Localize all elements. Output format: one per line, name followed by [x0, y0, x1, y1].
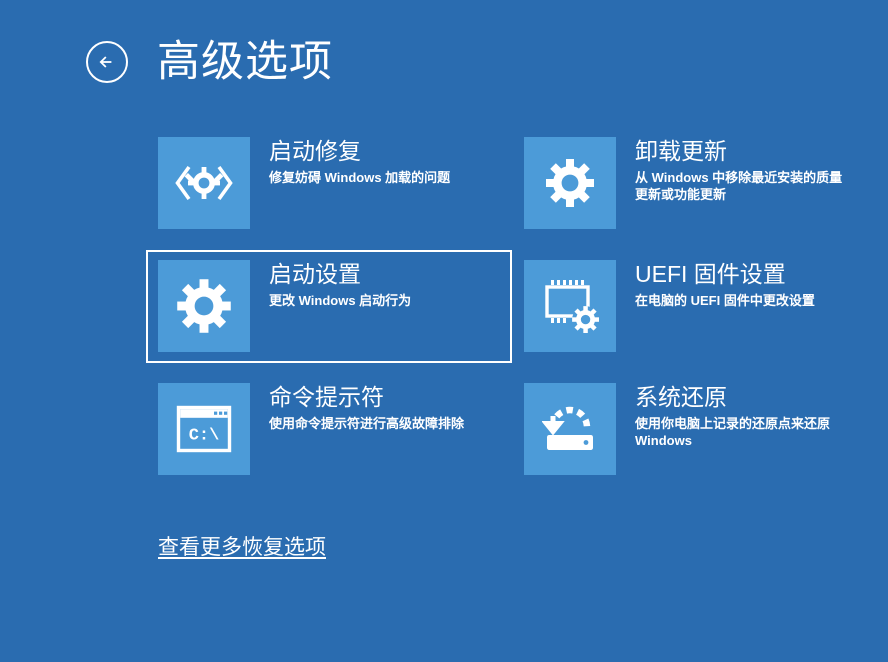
options-grid: 启动修复 修复妨碍 Windows 加载的问题 卸载更新	[146, 127, 886, 496]
tile-subtitle: 使用你电脑上记录的还原点来还原 Windows	[635, 415, 849, 449]
svg-text:C:\: C:\	[189, 427, 220, 446]
tile-startup-settings[interactable]: 启动设置 更改 Windows 启动行为	[146, 250, 512, 363]
tile-text: 卸载更新 从 Windows 中移除最近安装的质量更新或功能更新	[635, 137, 849, 203]
tile-title: 系统还原	[635, 384, 849, 412]
gear-icon	[158, 260, 250, 352]
chevrons-gear-icon	[158, 137, 250, 229]
tile-startup-repair[interactable]: 启动修复 修复妨碍 Windows 加载的问题	[146, 127, 512, 250]
options-row: C:\ 命令提示符 使用命令提示符进行高级故障排除 系统还原 使用你电脑上记录的…	[146, 373, 886, 496]
chip-gear-icon	[524, 260, 616, 352]
tile-subtitle: 更改 Windows 启动行为	[269, 292, 411, 309]
options-row: 启动设置 更改 Windows 启动行为	[146, 250, 886, 373]
see-more-recovery-options-link[interactable]: 查看更多恢复选项	[158, 531, 326, 561]
page-header: 高级选项	[86, 32, 333, 92]
gear-icon	[524, 137, 616, 229]
page-title: 高级选项	[157, 41, 333, 84]
tile-subtitle: 在电脑的 UEFI 固件中更改设置	[635, 292, 815, 309]
options-row: 启动修复 修复妨碍 Windows 加载的问题 卸载更新	[146, 127, 886, 250]
tile-text: 命令提示符 使用命令提示符进行高级故障排除	[269, 383, 464, 432]
tile-uninstall-updates[interactable]: 卸载更新 从 Windows 中移除最近安装的质量更新或功能更新	[512, 127, 886, 250]
tile-subtitle: 使用命令提示符进行高级故障排除	[269, 415, 464, 432]
restore-drive-icon	[524, 383, 616, 475]
tile-system-restore[interactable]: 系统还原 使用你电脑上记录的还原点来还原 Windows	[512, 373, 886, 496]
tile-title: 卸载更新	[635, 138, 849, 166]
tile-text: UEFI 固件设置 在电脑的 UEFI 固件中更改设置	[635, 260, 815, 309]
tile-text: 启动设置 更改 Windows 启动行为	[269, 260, 411, 309]
tile-subtitle: 从 Windows 中移除最近安装的质量更新或功能更新	[635, 169, 849, 203]
tile-title: 启动修复	[269, 138, 450, 166]
tile-title: 命令提示符	[269, 384, 464, 412]
tile-text: 系统还原 使用你电脑上记录的还原点来还原 Windows	[635, 383, 849, 449]
tile-title: 启动设置	[269, 261, 411, 289]
console-window-icon: C:\	[158, 383, 250, 475]
back-arrow-circle-icon[interactable]	[86, 41, 128, 83]
tile-command-prompt[interactable]: C:\ 命令提示符 使用命令提示符进行高级故障排除	[146, 373, 512, 496]
tile-title: UEFI 固件设置	[635, 261, 815, 289]
tile-uefi-firmware-settings[interactable]: UEFI 固件设置 在电脑的 UEFI 固件中更改设置	[512, 250, 886, 373]
tile-text: 启动修复 修复妨碍 Windows 加载的问题	[269, 137, 450, 186]
tile-subtitle: 修复妨碍 Windows 加载的问题	[269, 169, 450, 186]
